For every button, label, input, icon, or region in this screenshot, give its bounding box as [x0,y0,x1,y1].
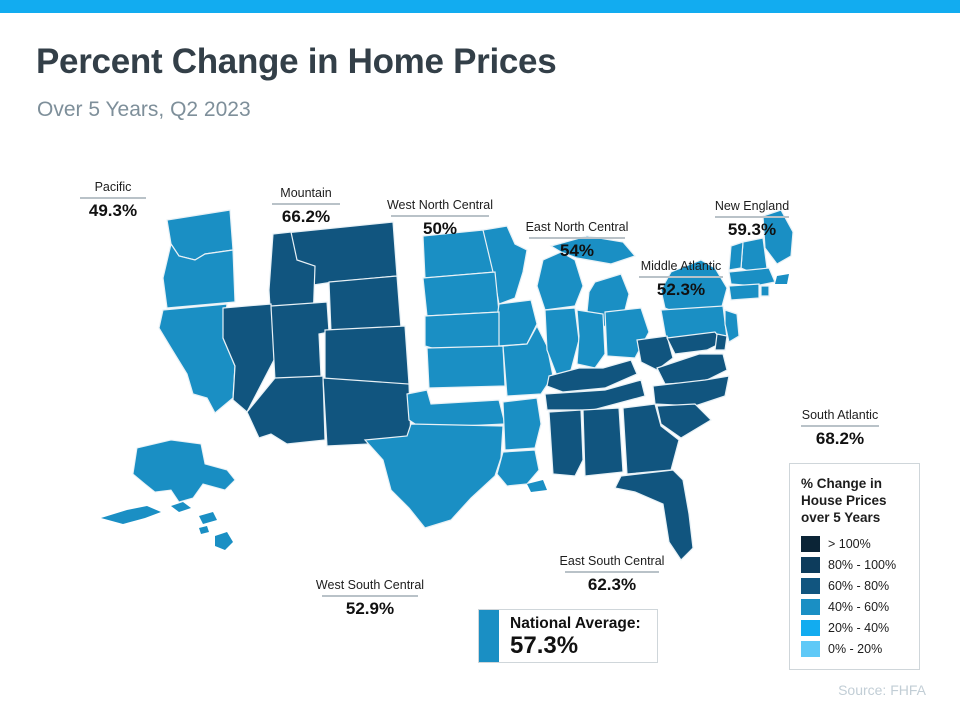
legend-label: 40% - 60% [828,600,889,614]
callout-value: 50% [376,219,504,239]
callout-rule [529,237,625,239]
legend-label: > 100% [828,537,871,551]
callout-east-north-central: East North Central 54% [514,220,640,261]
legend-swatch [801,620,820,636]
map-stage: Pacific 49.3% Mountain 66.2% West North … [0,0,960,720]
legend-swatch [801,641,820,657]
legend-label: 0% - 20% [828,642,882,656]
region-pacific[interactable] [101,210,235,550]
legend-items: > 100% 80% - 100% 60% - 80% 40% - 60% 20… [801,533,919,659]
callout-middle-atlantic: Middle Atlantic 52.3% [626,259,736,300]
legend-swatch [801,578,820,594]
legend-row[interactable]: 0% - 20% [801,638,919,659]
national-average-box: National Average: 57.3% [478,609,658,663]
callout-rule [639,276,723,278]
legend-row[interactable]: > 100% [801,533,919,554]
legend-title-line-2: House Prices [801,493,887,508]
region-mountain[interactable] [223,222,411,446]
legend-label: 80% - 100% [828,558,896,572]
callout-label: Middle Atlantic [626,259,736,274]
legend-row[interactable]: 80% - 100% [801,554,919,575]
map-legend: % Change in House Prices over 5 Years > … [789,463,920,670]
national-average-accent-bar [479,610,499,662]
legend-swatch [801,599,820,615]
callout-pacific: Pacific 49.3% [72,180,154,221]
legend-label: 60% - 80% [828,579,889,593]
callout-west-north-central: West North Central 50% [376,198,504,239]
callout-new-england: New England 59.3% [704,199,800,240]
legend-title-line-3: over 5 Years [801,510,880,525]
national-average-label: National Average: [510,614,641,633]
legend-swatch [801,536,820,552]
callout-rule [801,425,879,427]
legend-label: 20% - 40% [828,621,889,635]
callout-value: 68.2% [790,429,890,449]
callout-rule [391,215,489,217]
callout-value: 52.3% [626,280,736,300]
national-average-text: National Average: 57.3% [499,610,641,662]
callout-label: West North Central [376,198,504,213]
legend-row[interactable]: 40% - 60% [801,596,919,617]
callout-rule [272,203,340,205]
source-attribution: Source: FHFA [838,682,926,698]
callout-value: 52.9% [307,599,433,619]
legend-title-line-1: % Change in [801,476,882,491]
callout-rule [80,197,146,199]
legend-row[interactable]: 60% - 80% [801,575,919,596]
callout-rule [715,216,789,218]
callout-label: East South Central [551,554,673,569]
callout-value: 49.3% [72,201,154,221]
callout-label: Pacific [72,180,154,195]
callout-label: West South Central [307,578,433,593]
callout-rule [565,571,659,573]
callout-value: 54% [514,241,640,261]
national-average-value: 57.3% [510,633,641,659]
callout-value: 62.3% [551,575,673,595]
callout-label: South Atlantic [790,408,890,423]
callout-south-atlantic: South Atlantic 68.2% [790,408,890,449]
legend-title: % Change in House Prices over 5 Years [801,475,913,526]
callout-label: East North Central [514,220,640,235]
callout-label: Mountain [262,186,350,201]
callout-value: 59.3% [704,220,800,240]
legend-row[interactable]: 20% - 40% [801,617,919,638]
callout-mountain: Mountain 66.2% [262,186,350,227]
legend-swatch [801,557,820,573]
callout-west-south-central: West South Central 52.9% [307,578,433,619]
callout-label: New England [704,199,800,214]
callout-value: 66.2% [262,207,350,227]
callout-east-south-central: East South Central 62.3% [551,554,673,595]
callout-rule [322,595,418,597]
